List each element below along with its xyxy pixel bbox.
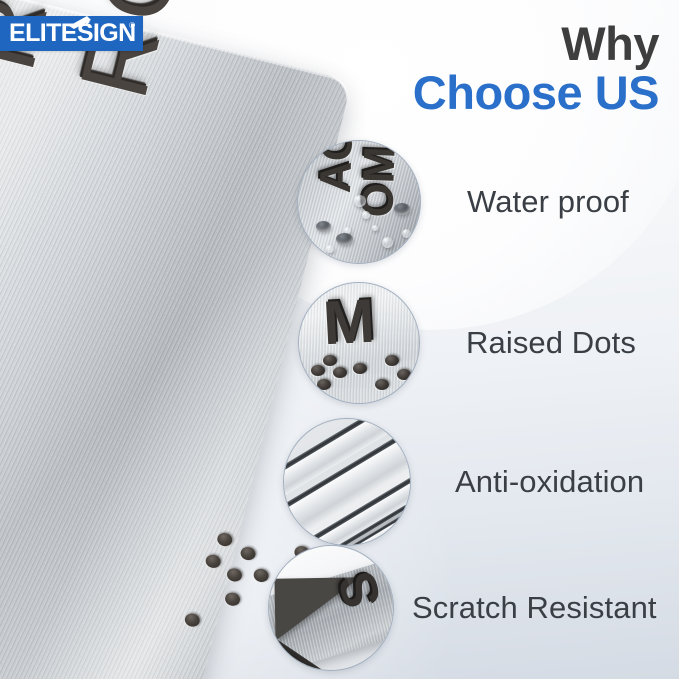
headline-line-1: Why [413, 20, 659, 69]
plate-corner-thumbnail: S [268, 545, 394, 671]
brand-logo[interactable]: ELITESIGN ® [0, 16, 143, 51]
feature-label-raised-dots: Raised Dots [466, 325, 636, 361]
water-droplets-thumbnail: AG OM [297, 140, 421, 264]
headline: Why Choose US [413, 20, 659, 118]
feature-row-water-proof: AG OM Water proof [297, 140, 629, 264]
stacked-plates-thumbnail [283, 418, 411, 546]
thumbnail-letter-m: M [321, 286, 376, 360]
feature-label-anti-oxidation: Anti-oxidation [455, 464, 644, 500]
feature-row-scratch-resistant: S Scratch Resistant [268, 545, 657, 671]
registered-mark: ® [129, 22, 135, 30]
headline-line-2: Choose US [413, 69, 659, 118]
braille-dots-thumbnail: M [298, 282, 420, 404]
feature-row-raised-dots: M Raised Dots [298, 282, 636, 404]
feature-row-anti-oxidation: Anti-oxidation [283, 418, 644, 546]
feature-label-scratch-resistant: Scratch Resistant [412, 590, 657, 626]
marketing-image: RAGE ROOM ELITESIGN ® Why Choose US [0, 0, 679, 679]
feature-label-water-proof: Water proof [467, 184, 629, 220]
